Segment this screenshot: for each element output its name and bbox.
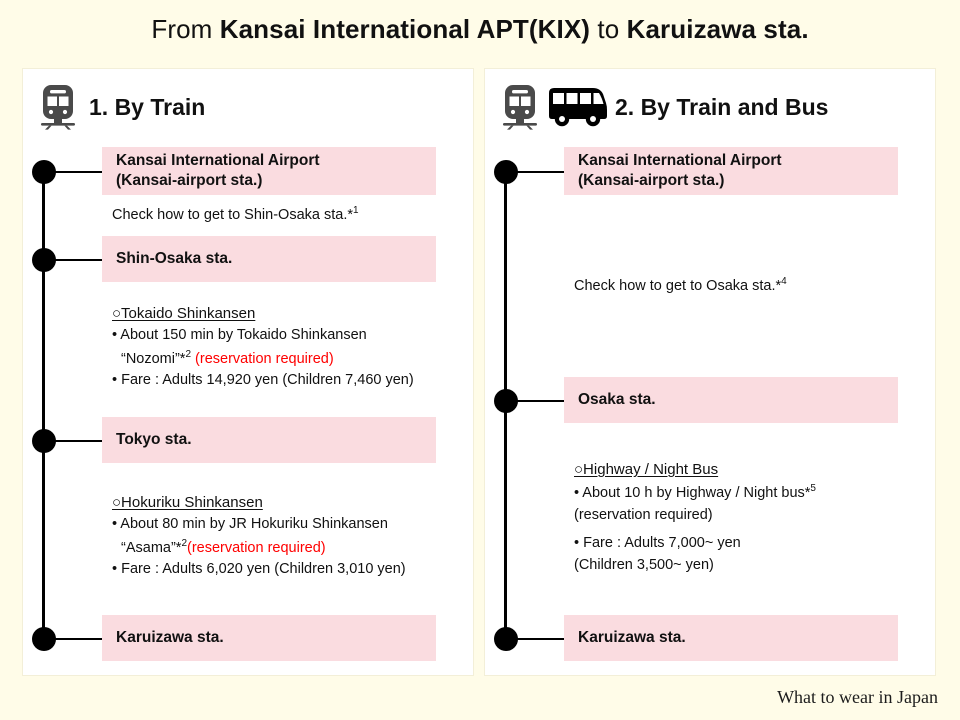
segment-duration-line: • About 150 min by Tokaido Shinkansen <box>112 325 414 347</box>
note-text: Check how to get to Osaka sta.* <box>574 278 781 294</box>
route-panel-by-train: 1. By Train Kansai International Airport… <box>22 68 474 676</box>
segment-train-name: “Asama”* <box>121 540 181 556</box>
timeline-dot-osaka <box>494 389 518 413</box>
segment-duration-text: • About 10 h by Highway / Night bus* <box>574 485 810 501</box>
train-icon <box>39 84 77 130</box>
station-box-shin-osaka: Shin-Osaka sta. <box>102 236 436 282</box>
reservation-required-warning: (reservation required) <box>187 540 326 556</box>
note-check-shin-osaka: Check how to get to Shin-Osaka sta.*1 <box>112 204 359 226</box>
title-origin: Kansai International APT(KIX) <box>220 14 590 44</box>
timeline-dot-karuizawa <box>494 627 518 651</box>
timeline-spine-train <box>42 171 45 639</box>
timeline-connector-kansai-airport <box>54 171 104 173</box>
segment-hokuriku-shinkansen: ○Hokuriku Shinkansen • About 80 min by J… <box>112 494 406 581</box>
timeline-dot-kansai-airport <box>494 160 518 184</box>
station-box-tokyo: Tokyo sta. <box>102 417 436 463</box>
segment-train-name-line: “Asama”*2(reservation required) <box>112 536 406 560</box>
segment-duration-line: • About 10 h by Highway / Night bus*5 <box>574 481 816 505</box>
segment-duration-superscript: 5 <box>810 483 816 494</box>
segment-heading: ○Tokaido Shinkansen <box>112 305 414 322</box>
route-header-by-train-and-bus: 2. By Train and Bus <box>501 81 828 133</box>
bus-icon <box>547 87 609 127</box>
segment-fare-line-children: (Children 3,500~ yen) <box>574 555 816 577</box>
note-superscript: 4 <box>781 276 787 287</box>
station-line-1: Kansai International Airport <box>578 151 898 171</box>
station-line-1: Tokyo sta. <box>116 430 436 450</box>
station-line-1: Karuizawa sta. <box>578 628 898 648</box>
station-box-karuizawa: Karuizawa sta. <box>564 615 898 661</box>
footer-brand: What to wear in Japan <box>777 687 938 708</box>
title-to-label: to <box>597 14 619 44</box>
station-line-1: Karuizawa sta. <box>116 628 436 648</box>
train-icon <box>501 84 539 130</box>
station-box-karuizawa: Karuizawa sta. <box>102 615 436 661</box>
station-line-2: (Kansai-airport sta.) <box>116 171 436 191</box>
segment-heading: ○Highway / Night Bus <box>574 461 816 478</box>
timeline-dot-tokyo <box>32 429 56 453</box>
segment-duration-line: • About 80 min by JR Hokuriku Shinkansen <box>112 514 406 536</box>
note-superscript: 1 <box>353 205 359 216</box>
route-header-by-train: 1. By Train <box>39 81 205 133</box>
title-destination: Karuizawa sta. <box>627 14 809 44</box>
timeline-connector-tokyo <box>54 440 104 442</box>
title-from-label: From <box>151 14 212 44</box>
station-box-kansai-airport: Kansai International Airport (Kansai-air… <box>102 147 436 195</box>
station-box-kansai-airport: Kansai International Airport (Kansai-air… <box>564 147 898 195</box>
station-line-2: (Kansai-airport sta.) <box>578 171 898 191</box>
station-line-1: Osaka sta. <box>578 390 898 410</box>
timeline-connector-karuizawa <box>516 638 566 640</box>
timeline-connector-shin-osaka <box>54 259 104 261</box>
route-title-by-train: 1. By Train <box>89 94 205 121</box>
segment-heading: ○Hokuriku Shinkansen <box>112 494 406 511</box>
segment-train-name-line: “Nozomi”*2 (reservation required) <box>112 347 414 371</box>
timeline-connector-kansai-airport <box>516 171 566 173</box>
note-text: Check how to get to Shin-Osaka sta.* <box>112 207 353 223</box>
timeline-dot-shin-osaka <box>32 248 56 272</box>
segment-train-name: “Nozomi”* <box>121 351 185 367</box>
segment-train-name-superscript: 2 <box>185 349 191 360</box>
timeline-dot-karuizawa <box>32 627 56 651</box>
segment-tokaido-shinkansen: ○Tokaido Shinkansen • About 150 min by T… <box>112 305 414 392</box>
reservation-required-warning: (reservation required) <box>574 505 816 527</box>
note-check-osaka: Check how to get to Osaka sta.*4 <box>574 275 787 297</box>
segment-fare-line: • Fare : Adults 14,920 yen (Children 7,4… <box>112 370 414 392</box>
segment-highway-night-bus: ○Highway / Night Bus • About 10 h by Hig… <box>574 461 816 577</box>
station-line-1: Kansai International Airport <box>116 151 436 171</box>
reservation-required-warning: (reservation required) <box>195 351 334 367</box>
station-box-osaka: Osaka sta. <box>564 377 898 423</box>
timeline-dot-kansai-airport <box>32 160 56 184</box>
route-title-by-train-and-bus: 2. By Train and Bus <box>615 94 828 121</box>
segment-fare-line: • Fare : Adults 6,020 yen (Children 3,01… <box>112 559 406 581</box>
segment-fare-line-adults: • Fare : Adults 7,000~ yen <box>574 533 816 555</box>
timeline-connector-osaka <box>516 400 566 402</box>
station-line-1: Shin-Osaka sta. <box>116 249 436 269</box>
route-panel-by-train-and-bus: 2. By Train and Bus Kansai International… <box>484 68 936 676</box>
page-title: From Kansai International APT(KIX) to Ka… <box>0 14 960 45</box>
timeline-connector-karuizawa <box>54 638 104 640</box>
